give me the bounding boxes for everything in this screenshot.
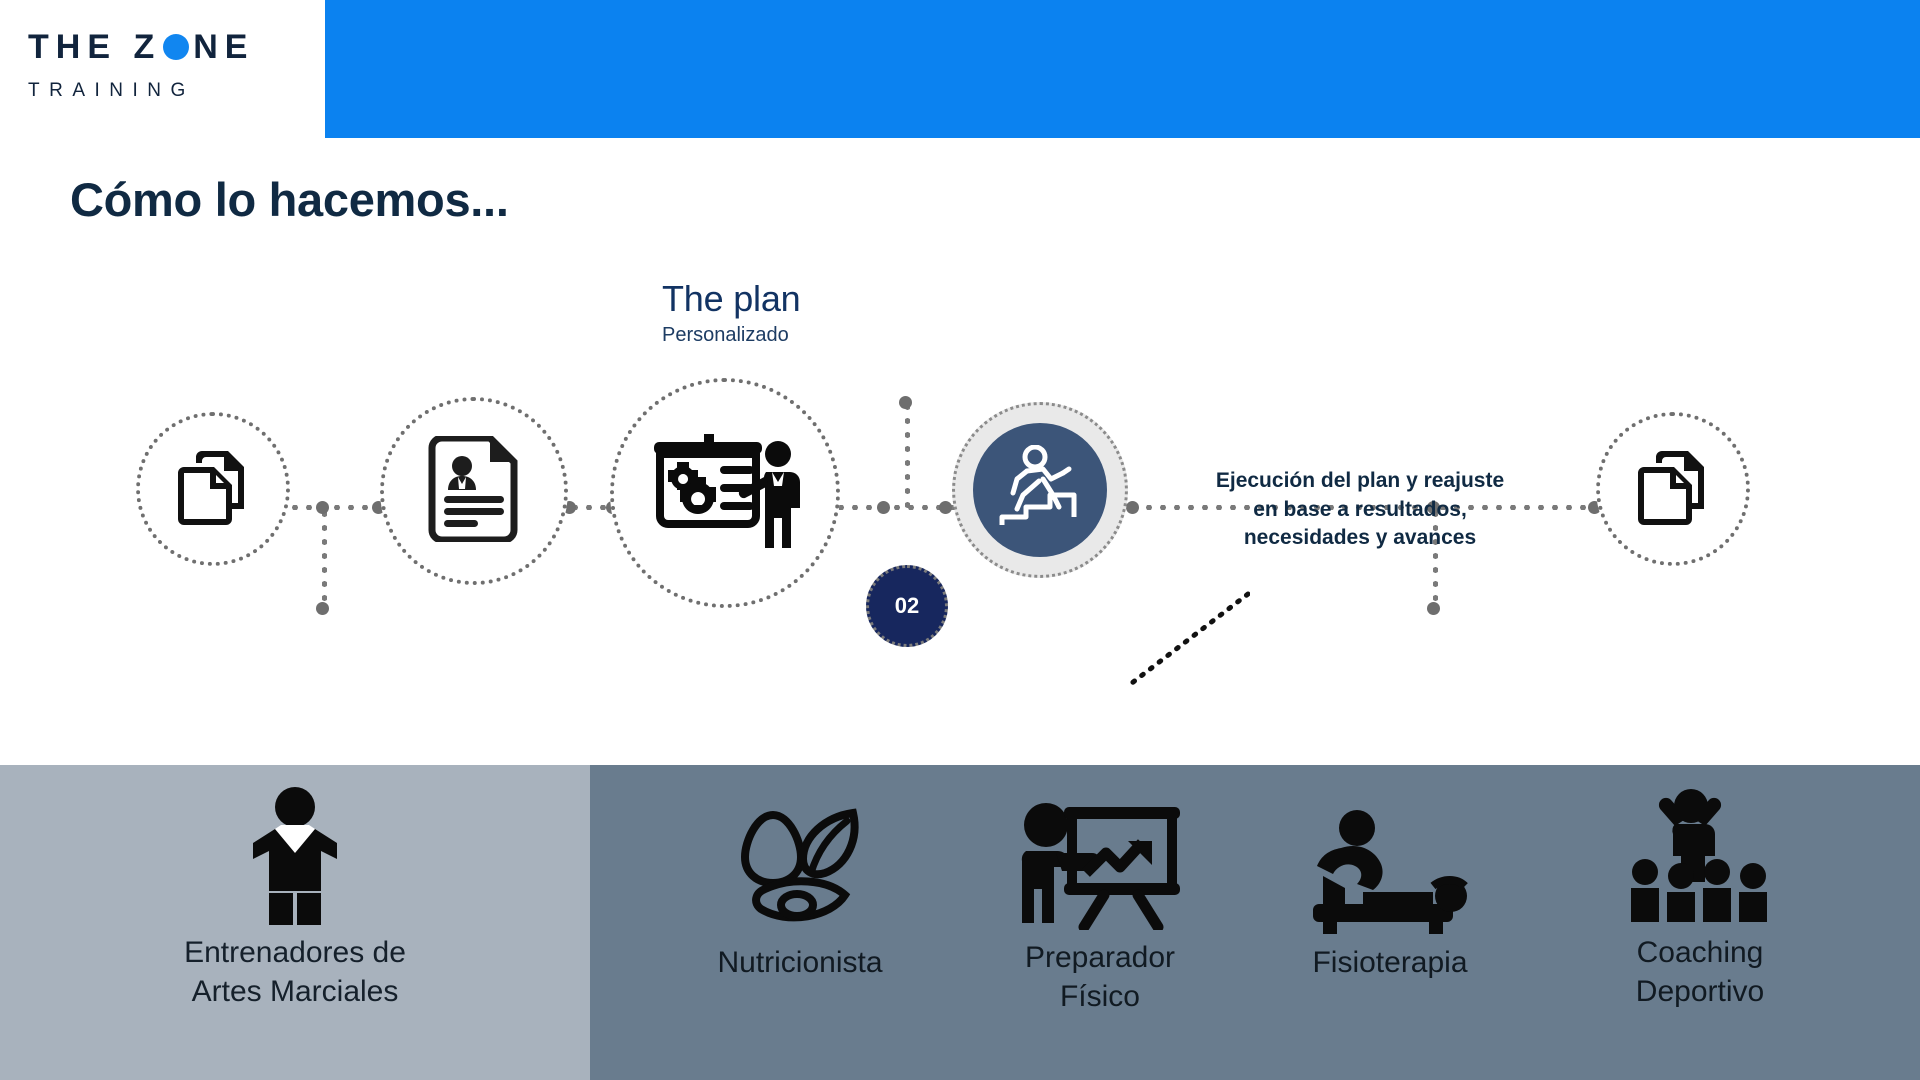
connector-joint [939,501,952,514]
service-item-sports-coaching[interactable]: Coaching Deportivo [1535,785,1865,1011]
service-item-physiotherapy[interactable]: Fisioterapia [1235,795,1545,982]
page-title: Cómo lo hacemos... [70,172,509,227]
connector-joint [877,501,890,514]
resume-person-document-icon [428,436,520,547]
documents-copy-icon [1636,447,1710,532]
connector-joint [316,602,329,615]
step-badge-number: 02 [895,593,919,619]
diagram-node-1[interactable] [136,412,290,566]
diagram-node-5[interactable] [1596,412,1750,566]
service-label: Entrenadores de Artes Marciales [45,933,545,1011]
connector-drop-01 [322,507,327,607]
logo-o-circle-icon [163,34,189,60]
service-item-nutritionist[interactable]: Nutricionista [635,795,965,982]
physiotherapy-massage-icon [1235,795,1545,935]
services-panel-right: Nutricionista Preparador Físico [590,765,1920,1080]
step-subtitle: Personalizado [662,324,801,347]
logo-subtitle: TRAINING [28,80,308,102]
service-item-martial-arts[interactable]: Entrenadores de Artes Marciales [45,785,545,1011]
process-diagram: 01 02 03 The core MOTIVACIÓN The plan Pe… [0,230,1920,760]
person-climbing-steps-icon [994,445,1086,536]
service-label: Nutricionista [635,943,965,982]
logo-text-part2: NE [193,30,254,64]
service-label: Preparador Físico [945,938,1255,1016]
step-title: The plan [662,280,801,318]
services-bar: Entrenadores de Artes Marciales Nutricio… [0,765,1920,1080]
diagram-node-3[interactable] [610,378,840,608]
documents-copy-icon [176,447,250,532]
hub-inner-circle [973,423,1107,557]
callout-leader-line [1120,590,1250,690]
step-badge-02[interactable]: 02 [866,565,948,647]
services-panel-left: Entrenadores de Artes Marciales [0,765,590,1080]
logo-wordmark: THE Z NE [28,24,308,70]
brand-logo: THE Z NE TRAINING [28,24,308,102]
service-item-physical-trainer[interactable]: Preparador Físico [945,790,1255,1016]
diagram-node-2[interactable] [380,397,568,585]
header-blue-bar [325,0,1920,138]
service-label: Fisioterapia [1235,943,1545,982]
martial-arts-person-icon [45,785,545,925]
connector-joint [899,396,912,409]
trainer-chart-board-icon [945,790,1255,930]
nutrition-egg-leaf-icon [635,795,965,935]
connector-drop-02 [905,400,910,508]
diagram-node-highlight[interactable] [952,402,1128,578]
presentation-gears-presenter-icon [650,432,800,555]
step-label-the-plan: The plan Personalizado [662,280,801,347]
connector-joint [1427,602,1440,615]
coaching-team-icon [1535,785,1865,925]
header: THE Z NE TRAINING [0,0,1920,140]
connector-joint [316,501,329,514]
callout-text: Ejecución del plan y reajuste en base a … [1205,467,1515,553]
service-label: Coaching Deportivo [1535,933,1865,1011]
logo-text-part1: THE Z [28,30,161,64]
connector-joint [1126,501,1139,514]
